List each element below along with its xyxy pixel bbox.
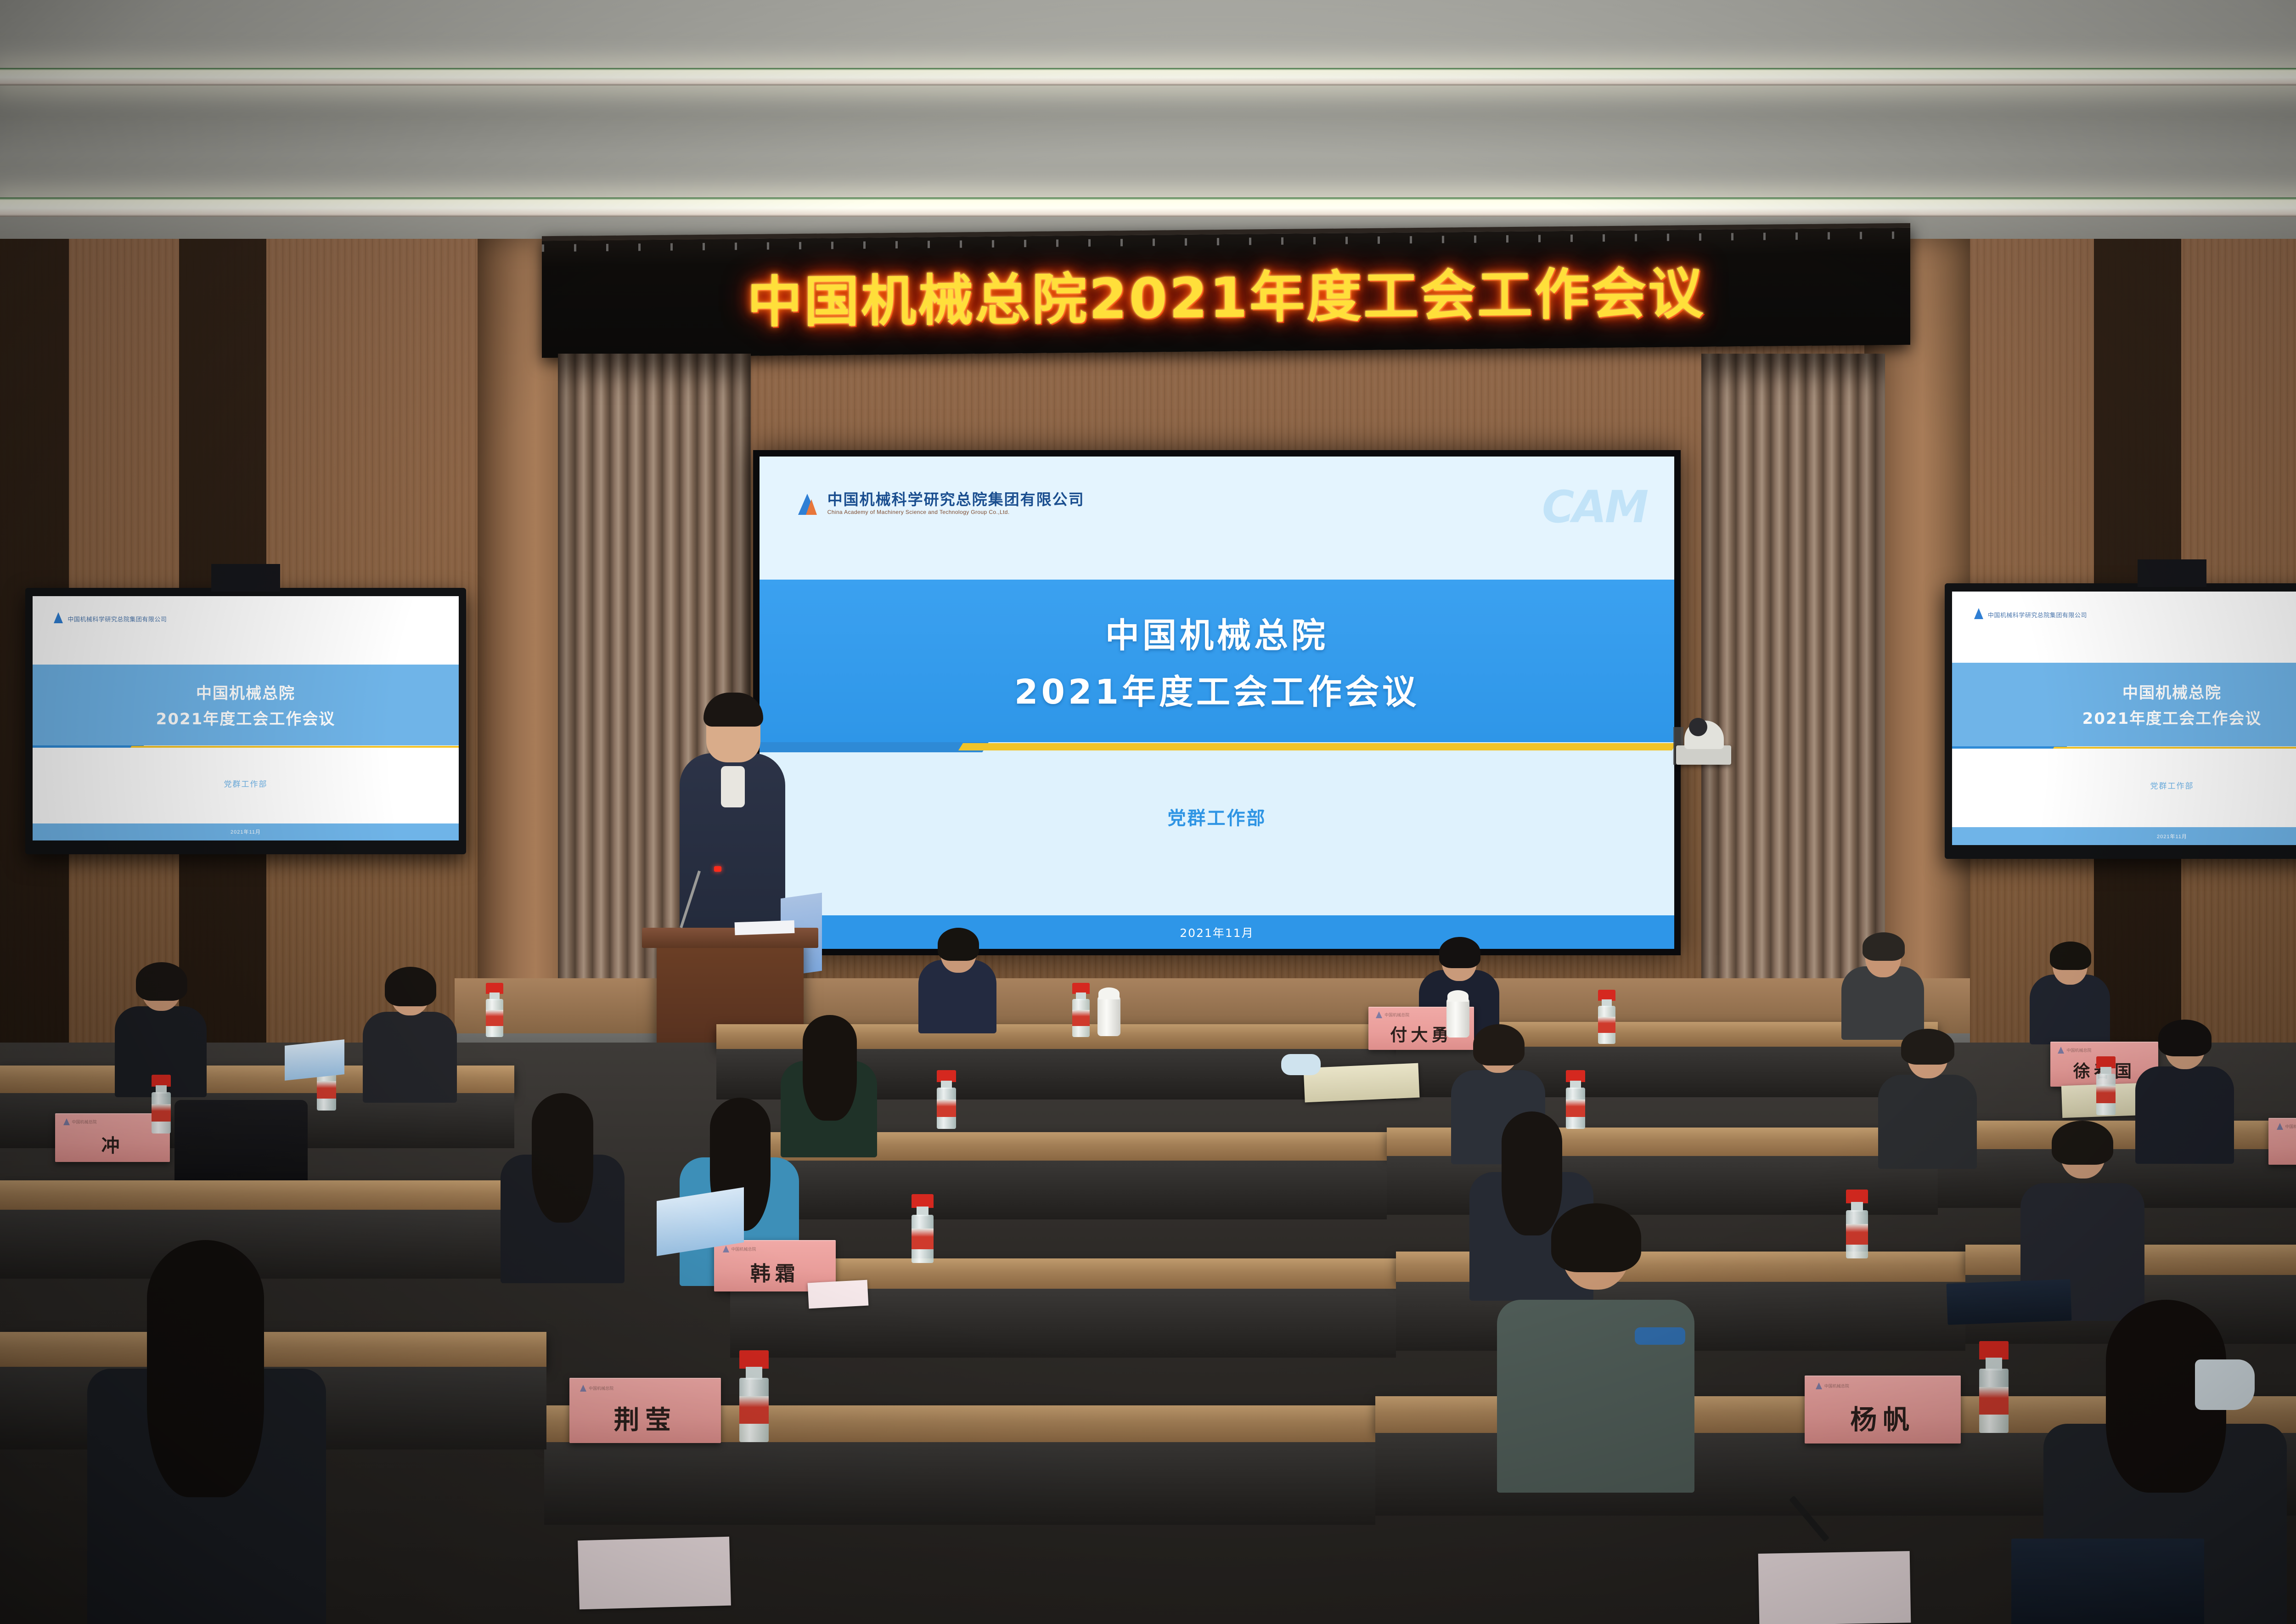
attendee-row4-a [1497,1203,1694,1488]
tablet-device [285,1039,344,1081]
slide-department: 党群工作部 [1168,803,1266,830]
paper-sheet [578,1537,731,1610]
monitor-left-date: 2021年11月 [231,828,261,835]
desk-row2-center-front [721,1161,1387,1219]
water-bottle [1072,983,1090,1037]
company-logo-cn: 中国机械科学研究总院集团有限公司 [827,492,1085,507]
slide-body: 党群工作部 [760,753,1674,915]
ceiling [0,0,2296,257]
water-bottle [152,1075,171,1133]
slide-title-band: 中国机械总院 2021年度工会工作会议 [760,580,1674,742]
placard-name: 荆莹 [569,1399,721,1437]
monitor-left-title2: 2021年度工会工作会议 [156,706,336,729]
placard-name: 包捷 [2268,1133,2296,1160]
water-bottle [912,1194,934,1263]
desk-row3-left [0,1180,519,1210]
monitor-right-logo: 中国机械科学研究总院集团有限公司 [1974,607,2087,619]
attendee-row3-c [501,1093,625,1277]
water-bottle [1979,1341,2009,1433]
speaker-collar [721,766,745,807]
camera-lens-icon [1689,718,1707,736]
monitor-left-logo: 中国机械科学研究总院集团有限公司 [54,611,167,623]
paper-sheet [1758,1551,1911,1624]
main-projection-screen: 中国机械科学研究总院集团有限公司 China Academy of Machin… [753,450,1681,955]
slide-title-line1: 中国机械总院 [1105,608,1328,657]
desk-row4-center-front [544,1442,1375,1525]
cam-watermark: CAM [1542,481,1647,533]
monitor-left-department: 党群工作部 [224,778,268,789]
presentation-slide: 中国机械科学研究总院集团有限公司 China Academy of Machin… [760,457,1674,949]
water-bottle [937,1070,956,1129]
water-bottle [1598,990,1615,1044]
mountain-logo-icon [798,491,822,515]
slide-footer: 2021年11月 [760,915,1674,949]
monitor-left-title1: 中国机械总院 [196,681,295,703]
attendee-row1-d [2030,942,2110,1043]
placard-org: 中国机械总院 [72,1119,97,1125]
attendee-row1-a [918,928,996,1033]
stage-curtain-right [1701,354,1885,1033]
placard-jingying: 中国机械总院 荆莹 [569,1378,721,1443]
monitor-right-logo-text: 中国机械科学研究总院集团有限公司 [1988,610,2087,619]
company-logo-en: China Academy of Machinery Science and T… [827,509,1085,515]
slide-title-line2: 2021年度工会工作会议 [1014,665,1419,714]
placard-yangfan: 中国机械总院 杨帆 [1805,1376,1961,1444]
placard-name: 冲 [55,1131,170,1157]
led-banner: 中国机械总院2021年度工会工作会议 [542,223,1910,358]
monitor-left-logo-text: 中国机械科学研究总院集团有限公司 [68,615,167,623]
water-bottle [739,1350,769,1442]
attendee-row2-e [1878,1029,1977,1167]
company-logo: 中国机械科学研究总院集团有限公司 China Academy of Machin… [798,491,1085,515]
led-banner-text: 中国机械总院2021年度工会工作会议 [747,248,1705,337]
water-bottle [1846,1190,1868,1258]
paper-sheet [808,1280,869,1309]
monitor-right-title2: 2021年度工会工作会议 [2082,706,2262,728]
slide-date: 2021年11月 [1180,924,1254,941]
monitor-right-title1: 中国机械总院 [2122,680,2222,703]
placard-name: 杨帆 [1805,1398,1961,1437]
led-banner-highlight [542,231,1910,252]
placard-org: 中国机械总院 [1384,1012,1409,1018]
attendee-row4-b [87,1240,326,1624]
tea-cup-lid [1098,987,1120,999]
placard-org: 中国机械总院 [1824,1383,1849,1389]
attendee-row2-f [2135,1020,2234,1162]
open-notebook [1303,1063,1419,1103]
placard-org: 中国机械总院 [2285,1123,2296,1129]
ceiling-light-strip-front [0,68,2296,85]
placard-org: 中国机械总院 [2066,1047,2091,1053]
conference-room-photo: 中国机械总院2021年度工会工作会议 中国机械科学研究总院集团有限公司 Chin… [0,0,2296,1624]
placard-baojie: 中国机械总院 包捷 [2268,1118,2296,1165]
attendee-row1-c [1841,932,1924,1038]
ptz-camera-icon [1676,714,1731,765]
placard-org: 中国机械总院 [732,1246,756,1252]
water-bottle [486,983,503,1037]
slide-header: 中国机械科学研究总院集团有限公司 China Academy of Machin… [760,457,1674,580]
ceiling-light-strip-rear [0,197,2296,217]
microphone-led-icon [714,866,721,872]
dark-notebook [2011,1539,2204,1624]
face-mask [1281,1054,1321,1075]
tea-cup-lid [1447,990,1469,1002]
slide-accent-stripe [760,742,1674,752]
side-monitor-left: 中国机械科学研究总院集团有限公司 中国机械总院 2021年度工会工作会议 党群工… [25,588,466,854]
side-monitor-right: 中国机械科学研究总院集团有限公司 中国机械总院 2021年度工会工作会议 党群工… [1945,583,2296,859]
placard-org: 中国机械总院 [589,1385,613,1391]
speech-papers [735,920,795,936]
attendee-row2-d [363,967,457,1100]
monitor-right-date: 2021年11月 [2157,833,2187,840]
water-bottle [2096,1056,2116,1115]
monitor-right-department: 党群工作部 [2150,779,2194,791]
tea-cup [1097,997,1120,1036]
